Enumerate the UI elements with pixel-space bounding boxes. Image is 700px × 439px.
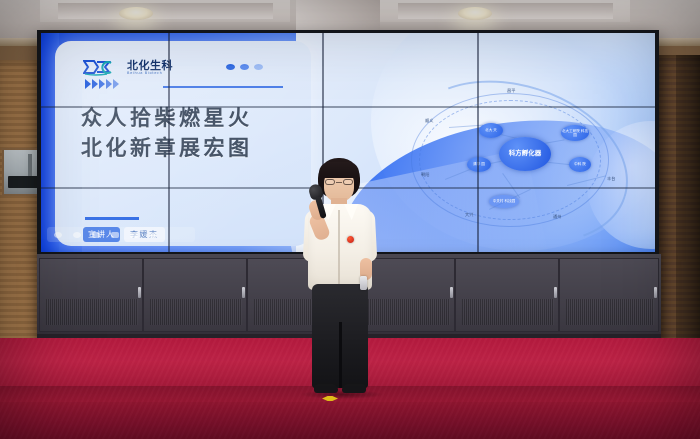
wall-shadow-right xyxy=(676,55,700,385)
presentation-hall-photo: 科方孵化器 北大 天 清华 园 北大工研院 科技园 中科 院 中关村 科技园 顺… xyxy=(0,0,700,439)
ceiling-recess-left xyxy=(58,3,273,19)
decor-dots xyxy=(226,64,263,70)
logo-name-cn: 北化生科 xyxy=(127,60,173,71)
shirt-placket xyxy=(338,210,340,284)
brand-logo: 北化生科 Beihua Biotech xyxy=(83,59,173,76)
presenter xyxy=(292,158,388,398)
cabinet-handle[interactable] xyxy=(242,287,245,298)
ceiling-recess-right xyxy=(398,3,613,19)
cabinet-unit[interactable] xyxy=(559,258,659,332)
cabinet-vent xyxy=(46,299,138,325)
slide-title: 众人拾柴燃星火 北化新章展宏图 xyxy=(81,103,306,164)
panel-seam-horizontal xyxy=(41,106,655,108)
map-district-label: 大兴 xyxy=(465,213,473,218)
party-emblem-pin xyxy=(347,236,354,243)
map-district-label: 通州 xyxy=(553,215,561,220)
map-district-label: 朝阳 xyxy=(421,173,429,178)
shoe-left xyxy=(314,384,338,393)
trouser-seam xyxy=(339,322,342,388)
cabinet-vent xyxy=(150,299,242,325)
logo-name-en: Beihua Biotech xyxy=(127,72,173,76)
pen-icon[interactable] xyxy=(92,232,100,238)
shoe-right xyxy=(342,384,366,393)
slide-title-line2: 北化新章展宏图 xyxy=(81,133,306,163)
hair-fringe xyxy=(319,162,359,178)
cabinet-handle[interactable] xyxy=(554,287,557,298)
cabinet-handle[interactable] xyxy=(654,287,657,298)
media-playback-toolbar[interactable] xyxy=(47,227,195,242)
screen-icon[interactable] xyxy=(130,232,138,238)
panel-seam-vertical xyxy=(477,33,479,252)
map-node: 清华 园 xyxy=(467,157,491,172)
select-icon[interactable] xyxy=(111,232,119,238)
cabinet-handle[interactable] xyxy=(450,287,453,298)
presentation-clicker xyxy=(360,276,367,290)
cabinet-vent xyxy=(566,299,654,325)
slide-content-card: 北化生科 Beihua Biotech 众人拾柴燃星火 北化新章展宏图 宣讲人 … xyxy=(55,41,311,246)
panel-seam-vertical xyxy=(168,33,170,252)
map-node: 中关村 科技园 xyxy=(489,195,519,208)
chevron-accent-icon xyxy=(85,79,119,89)
map-node: 北大 天 xyxy=(479,123,503,138)
ceiling-beam-center xyxy=(296,0,380,30)
cabinet-handle[interactable] xyxy=(138,287,141,298)
logo-text: 北化生科 Beihua Biotech xyxy=(127,60,173,76)
cabinet-unit[interactable] xyxy=(455,258,559,332)
play-icon[interactable] xyxy=(54,232,62,238)
map-district-label: 顺义 xyxy=(425,119,433,124)
microphone-body xyxy=(315,196,327,219)
map-node-center: 科方孵化器 xyxy=(499,137,551,171)
next-icon[interactable] xyxy=(73,232,81,238)
cabinet-unit[interactable] xyxy=(39,258,143,332)
title-underbar xyxy=(85,217,139,220)
downlight-right xyxy=(458,7,492,20)
map-district-label: 昌平 xyxy=(507,89,515,94)
window-mullion xyxy=(28,154,32,178)
map-node: 北大工研院 科技园 xyxy=(561,125,589,141)
logo-mark-icon xyxy=(83,59,121,76)
glasses xyxy=(325,179,353,185)
map-district-label: 丰台 xyxy=(607,177,615,182)
header-rule xyxy=(163,86,283,88)
control-room-monitor xyxy=(8,176,38,188)
more-icon[interactable] xyxy=(149,232,157,238)
cabinet-vent xyxy=(462,299,554,325)
map-node: 中科 院 xyxy=(569,157,591,172)
cabinet-unit[interactable] xyxy=(143,258,247,332)
downlight-left xyxy=(119,7,153,20)
